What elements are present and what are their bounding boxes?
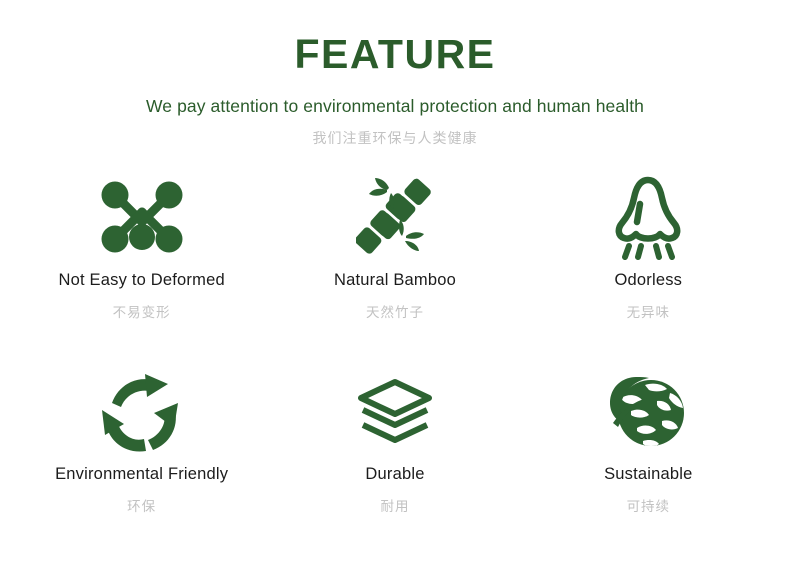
feature-item-durable: Durable 耐用 <box>268 364 521 560</box>
feature-label-english: Durable <box>365 465 424 484</box>
globe-leaf-icon <box>607 364 689 460</box>
recycle-icon <box>102 364 182 460</box>
feature-item-environmental-friendly: Environmental Friendly 环保 <box>15 364 268 560</box>
subtitle-english: We pay attention to environmental protec… <box>0 75 790 117</box>
subtitle-chinese: 我们注重环保与人类健康 <box>0 117 790 148</box>
nose-icon <box>610 168 686 266</box>
feature-label-chinese: 可持续 <box>627 495 671 515</box>
feature-label-chinese: 耐用 <box>380 495 409 515</box>
feature-section: FEATURE We pay attention to environmenta… <box>0 0 790 576</box>
feature-label-english: Not Easy to Deformed <box>59 271 225 290</box>
feature-grid: Not Easy to Deformed 不易变形 <box>15 168 775 560</box>
feature-label-chinese: 无异味 <box>627 301 671 321</box>
lattice-nodes-icon <box>99 168 185 266</box>
feature-label-chinese: 天然竹子 <box>366 301 424 321</box>
section-header: FEATURE We pay attention to environmenta… <box>0 0 790 148</box>
feature-item-odorless: Odorless 无异味 <box>522 168 775 364</box>
feature-label-chinese: 不易变形 <box>113 301 171 321</box>
feature-item-sustainable: Sustainable 可持续 <box>522 364 775 560</box>
feature-label-english: Environmental Friendly <box>55 465 228 484</box>
page-title: FEATURE <box>0 34 790 75</box>
bamboo-icon <box>356 168 434 266</box>
feature-label-english: Sustainable <box>604 465 692 484</box>
feature-item-natural-bamboo: Natural Bamboo 天然竹子 <box>268 168 521 364</box>
feature-label-chinese: 环保 <box>127 495 156 515</box>
feature-label-english: Natural Bamboo <box>334 271 456 290</box>
layers-icon <box>355 364 435 460</box>
feature-label-english: Odorless <box>615 271 683 290</box>
feature-item-not-easy-to-deformed: Not Easy to Deformed 不易变形 <box>15 168 268 364</box>
